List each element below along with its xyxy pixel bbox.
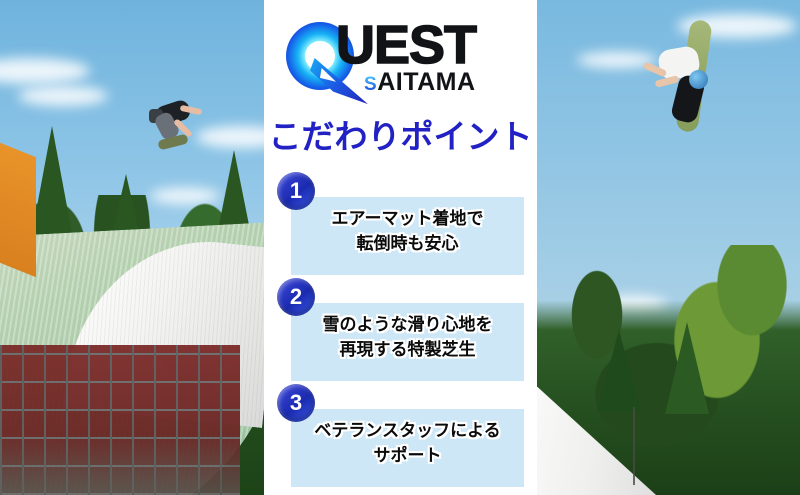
conifer-tree: [30, 126, 74, 244]
photo-right: [537, 0, 800, 495]
logo-wordmark-text: UEST: [336, 15, 476, 75]
logo-subtitle-initial: S: [364, 74, 377, 95]
point-text: エアーマット着地で 転倒時も安心: [291, 207, 524, 256]
quest-saitama-logo: UEST SAITAMA: [264, 12, 537, 108]
rider-helmet: [689, 70, 708, 89]
orange-wall: [0, 143, 36, 278]
promo-banner: UEST SAITAMA こだわりポイント 1 エアーマット着地で 転倒時も安心…: [0, 0, 800, 495]
point-number-badge: 2: [277, 278, 315, 316]
cloud: [18, 86, 108, 106]
content-panel: UEST SAITAMA こだわりポイント 1 エアーマット着地で 転倒時も安心…: [264, 0, 537, 495]
logo-subtitle: SAITAMA: [364, 70, 476, 95]
list-item: 1 エアーマット着地で 転倒時も安心: [264, 172, 537, 278]
photo-left: [0, 0, 264, 495]
point-number-badge: 1: [277, 172, 315, 210]
point-text-wrap: エアーマット着地で 転倒時も安心: [291, 197, 524, 275]
scaffolding: [0, 345, 240, 495]
page-title: こだわりポイント: [264, 110, 537, 158]
list-item: 2 雪のような滑り心地を 再現する特製芝生: [264, 278, 537, 384]
utility-pole: [633, 407, 635, 485]
logo-wordmark: UEST: [336, 18, 476, 72]
conifer-tree: [665, 322, 709, 414]
rider-arm: [655, 75, 680, 88]
point-text: 雪のような滑り心地を 再現する特製芝生: [291, 313, 524, 362]
points-list: 1 エアーマット着地で 転倒時も安心 2 雪のような滑り心地を 再現する特製芝生…: [264, 172, 537, 490]
point-text-wrap: ベテランスタッフによる サポート: [291, 409, 524, 487]
point-number-badge: 3: [277, 384, 315, 422]
logo-subtitle-rest: AITAMA: [377, 68, 475, 96]
point-text: ベテランスタッフによる サポート: [291, 419, 524, 468]
list-item: 3 ベテランスタッフによる サポート: [264, 384, 537, 490]
snowboarder-right: [645, 20, 765, 170]
conifer-tree: [597, 330, 641, 412]
point-text-wrap: 雪のような滑り心地を 再現する特製芝生: [291, 303, 524, 381]
